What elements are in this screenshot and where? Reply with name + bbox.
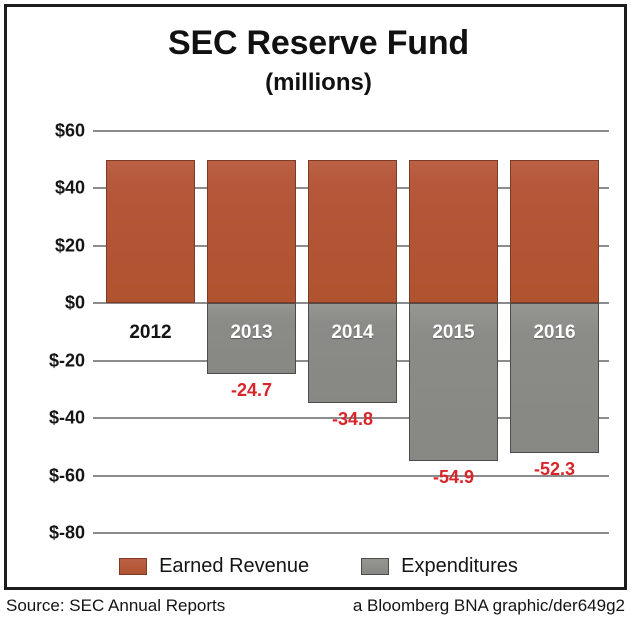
y-axis-tick-label: $-40 xyxy=(7,408,85,429)
legend-swatch-icon-expenditures xyxy=(361,558,389,575)
y-axis-tick-label: $40 xyxy=(7,178,85,199)
legend-swatch-icon-earned-revenue xyxy=(119,558,147,575)
chart-frame: SEC Reserve Fund (millions) $60$40$20$0$… xyxy=(4,4,627,590)
bar-earned-revenue-2012 xyxy=(106,160,195,304)
bar-earned-revenue-2014 xyxy=(308,160,397,304)
y-axis-tick-label: $-60 xyxy=(7,465,85,486)
y-axis-tick-label: $60 xyxy=(7,121,85,142)
value-label-2014: -34.8 xyxy=(308,409,397,430)
bar-earned-revenue-2015 xyxy=(409,160,498,304)
y-axis-tick-label: $20 xyxy=(7,235,85,256)
bar-expenditures-2014 xyxy=(308,303,397,403)
y-axis-tick-label: $-80 xyxy=(7,523,85,544)
y-axis-tick-label: $-20 xyxy=(7,350,85,371)
value-label-2015: -54.9 xyxy=(409,467,498,488)
y-axis-tick-label: $0 xyxy=(7,293,85,314)
legend-label-expenditures: Expenditures xyxy=(401,555,518,578)
bar-earned-revenue-2016 xyxy=(510,160,599,304)
legend-label-earned-revenue: Earned Revenue xyxy=(159,555,309,578)
value-label-2016: -52.3 xyxy=(510,459,599,480)
chart-footer: Source: SEC Annual Reports a Bloomberg B… xyxy=(4,594,627,620)
category-label-2015: 2015 xyxy=(409,322,498,344)
legend-item-earned-revenue: Earned Revenue xyxy=(119,555,309,578)
category-label-2013: 2013 xyxy=(207,322,296,344)
value-label-2013: -24.7 xyxy=(207,380,296,401)
category-label-2012: 2012 xyxy=(106,322,195,344)
category-label-2014: 2014 xyxy=(308,322,397,344)
legend-item-expenditures: Expenditures xyxy=(361,555,518,578)
gridline xyxy=(93,130,609,132)
bar-earned-revenue-2013 xyxy=(207,160,296,304)
chart-legend: Earned Revenue Expenditures xyxy=(7,555,630,578)
gridline xyxy=(93,532,609,534)
footer-source: Source: SEC Annual Reports xyxy=(6,596,225,616)
footer-credit: a Bloomberg BNA graphic/der649g2 xyxy=(353,596,625,616)
chart-page: SEC Reserve Fund (millions) $60$40$20$0$… xyxy=(0,0,633,622)
plot-area: $60$40$20$0$-20$-40$-60$-802012-24.72013… xyxy=(7,7,630,593)
category-label-2016: 2016 xyxy=(510,322,599,344)
